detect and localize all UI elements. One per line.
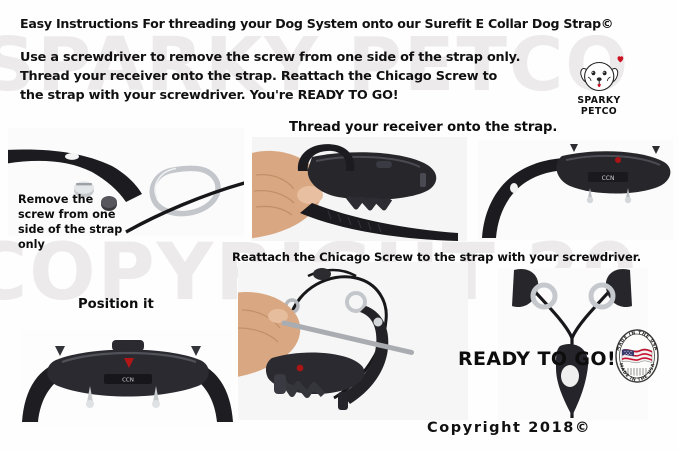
instruction-line-3: the strap with your screwdriver. You're … <box>20 88 398 103</box>
caption-ready-to-go: READY TO GO! <box>458 348 616 371</box>
instruction-line-2: Thread your receiver onto the strap. Rea… <box>20 69 497 84</box>
caption-remove-screw: Remove the screw from one side of the st… <box>18 192 128 252</box>
svg-text:CCN: CCN <box>122 378 134 384</box>
copyright-notice: Copyright 2018© <box>427 420 591 436</box>
instruction-sheet: SPARKY PETCO COPYRIGHT 20 Easy Instructi… <box>0 0 679 450</box>
photo-positioned: CCN <box>20 330 235 426</box>
page-title: Easy Instructions For threading your Dog… <box>20 16 613 31</box>
dog-face-icon <box>562 55 636 95</box>
caption-reattach-screw: Reattach the Chicago Screw to the strap … <box>232 250 641 264</box>
instruction-line-1: Use a screwdriver to remove the screw fr… <box>20 50 520 65</box>
usa-flag-icon <box>622 349 652 363</box>
caption-thread-receiver: Thread your receiver onto the strap. <box>289 120 557 135</box>
photo-hand-thread <box>252 137 467 241</box>
photo-screwdriver <box>238 262 468 420</box>
brand-logo: SPARKY PETCO <box>562 55 636 117</box>
caption-position-it: Position it <box>78 297 154 312</box>
logo-name-line-2: PETCO <box>562 107 636 117</box>
svg-text:CCN: CCN <box>602 175 615 182</box>
made-in-usa-badge: MADE IN THE USA MADE IN THE USA <box>610 328 664 384</box>
logo-name-line-1: SPARKY <box>562 96 636 106</box>
heart-icon <box>618 56 624 62</box>
photo-receiver-on: CCN <box>478 140 673 240</box>
